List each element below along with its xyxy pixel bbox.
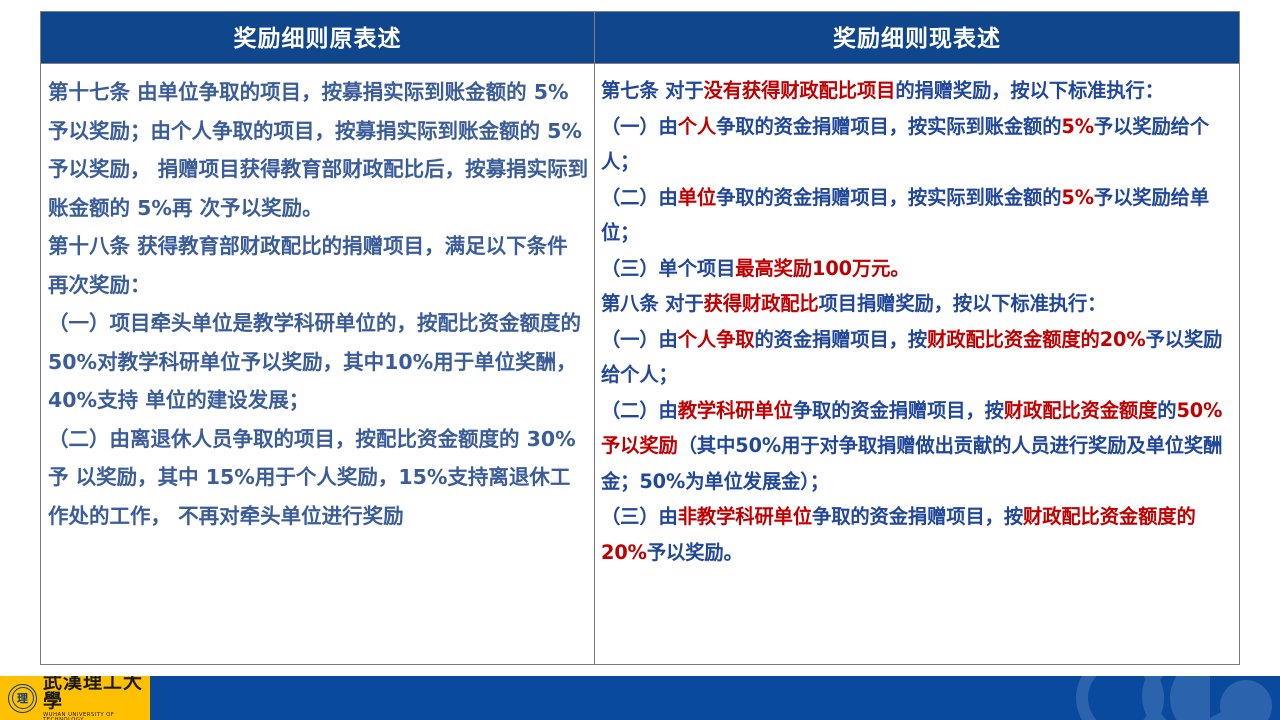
- highlight-run: 单位: [678, 186, 716, 209]
- text-run: 争取的资金捐赠项目，按: [812, 505, 1023, 528]
- highlight-run: 5%: [1061, 186, 1094, 209]
- right-paragraph: （三）由非教学科研单位争取的资金捐赠项目，按财政配比资金额度的20%予以奖励。: [601, 499, 1235, 570]
- university-logo: 理 武漢理工大學 WUHAN UNIVERSITY OF TECHNOLOGY: [0, 676, 150, 720]
- highlight-run: 财政配比资金额度的20%: [927, 328, 1145, 351]
- header-current-text: 奖励细则现表述: [595, 12, 1240, 64]
- slide-root: 奖励细则原表述 奖励细则现表述 第十七条 由单位争取的项目，按募捐实际到账金额的…: [0, 0, 1280, 720]
- left-paragraph: 第十八条 获得教育部财政配比的捐赠项目，满足以下条件 再次奖励：: [48, 227, 590, 304]
- decorative-arc-graphic: [1060, 676, 1280, 720]
- text-run: 第七条 对于: [601, 79, 704, 102]
- highlight-run: 没有获得财政配比项目: [704, 79, 896, 102]
- comparison-table: 奖励细则原表述 奖励细则现表述 第十七条 由单位争取的项目，按募捐实际到账金额的…: [40, 11, 1240, 665]
- highlight-run: 教学科研单位: [678, 399, 793, 422]
- text-run: 项目捐赠奖励，按以下标准执行：: [819, 292, 1107, 315]
- right-paragraph: （三）单个项目最高奖励100万元。: [601, 251, 1235, 287]
- text-run: 的捐赠奖励，按以下标准执行：: [895, 79, 1164, 102]
- left-paragraph: （二）由离退休人员争取的项目，按配比资金额度的 30%予 以奖励，其中 15%用…: [48, 420, 590, 536]
- highlight-run: 个人: [678, 115, 716, 138]
- highlight-run: 5%: [1061, 115, 1094, 138]
- text-run: 的: [1157, 399, 1176, 422]
- right-paragraph: （一）由个人争取的资金捐赠项目，按实际到账金额的5%予以奖励给个人；: [601, 109, 1235, 180]
- text-run: （二）由: [601, 399, 678, 422]
- highlight-run: 最高奖励100万元。: [735, 257, 909, 280]
- right-paragraph: （二）由单位争取的资金捐赠项目，按实际到账金额的5%予以奖励给单位；: [601, 180, 1235, 251]
- highlight-run: 财政配比资金额度: [1004, 399, 1157, 422]
- footer-banner: 理 武漢理工大學 WUHAN UNIVERSITY OF TECHNOLOGY: [0, 676, 1280, 720]
- logo-text-block: 武漢理工大學 WUHAN UNIVERSITY OF TECHNOLOGY: [43, 676, 150, 720]
- text-run: （三）单个项目: [601, 257, 735, 280]
- cell-current-text: 第七条 对于没有获得财政配比项目的捐赠奖励，按以下标准执行：（一）由个人争取的资…: [595, 64, 1240, 665]
- right-paragraph: 第七条 对于没有获得财政配比项目的捐赠奖励，按以下标准执行：: [601, 73, 1235, 109]
- right-paragraph: （一）由个人争取的资金捐赠项目，按财政配比资金额度的20%予以奖励给个人；: [601, 322, 1235, 393]
- university-seal-icon: 理: [8, 684, 37, 713]
- text-run: 第八条 对于: [601, 292, 704, 315]
- logo-chinese-name: 武漢理工大學: [43, 676, 150, 711]
- text-run: （三）由: [601, 505, 678, 528]
- text-run: （一）由: [601, 328, 678, 351]
- left-paragraph: （一）项目牵头单位是教学科研单位的，按配比资金额度的 50%对教学科研单位予以奖…: [48, 304, 590, 420]
- table-header-row: 奖励细则原表述 奖励细则现表述: [41, 12, 1240, 64]
- text-run: 争取的资金捐赠项目，按实际到账金额的: [716, 115, 1061, 138]
- right-paragraph: （二）由教学科研单位争取的资金捐赠项目，按财政配比资金额度的50%予以奖励（其中…: [601, 393, 1235, 500]
- text-run: 争取的资金捐赠项目，按实际到账金额的: [716, 186, 1061, 209]
- logo-english-name: WUHAN UNIVERSITY OF TECHNOLOGY: [43, 713, 150, 720]
- cell-original-text: 第十七条 由单位争取的项目，按募捐实际到账金额的 5% 予以奖励；由个人争取的项…: [41, 64, 595, 665]
- right-paragraph: 第八条 对于获得财政配比项目捐赠奖励，按以下标准执行：: [601, 286, 1235, 322]
- text-run: 予以奖励。: [647, 541, 743, 564]
- highlight-run: 获得财政配比: [704, 292, 819, 315]
- text-run: （二）由: [601, 186, 678, 209]
- header-original-text: 奖励细则原表述: [41, 12, 595, 64]
- text-run: （一）由: [601, 115, 678, 138]
- text-run: 的资金捐赠项目，按: [754, 328, 927, 351]
- highlight-run: 非教学科研单位: [678, 505, 812, 528]
- table-body-row: 第十七条 由单位争取的项目，按募捐实际到账金额的 5% 予以奖励；由个人争取的项…: [41, 64, 1240, 665]
- seal-glyph-label: 理: [17, 693, 28, 704]
- left-paragraph: 第十七条 由单位争取的项目，按募捐实际到账金额的 5% 予以奖励；由个人争取的项…: [48, 73, 590, 227]
- highlight-run: 个人争取: [678, 328, 755, 351]
- text-run: 争取的资金捐赠项目，按: [793, 399, 1004, 422]
- text-run: （其中50%用于对争取捐赠做出贡献的人员进行奖励及单位奖酬金；50%为单位发展金…: [601, 434, 1222, 493]
